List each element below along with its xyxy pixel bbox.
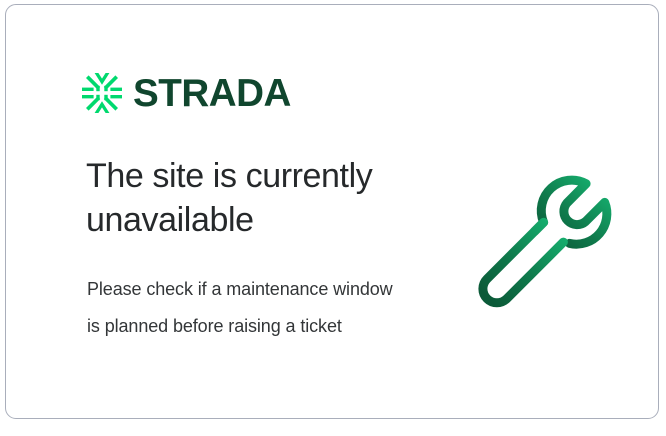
brand-logo: STRADA	[80, 71, 293, 115]
page-description: Please check if a maintenance window is …	[87, 271, 397, 345]
page-title: The site is currently unavailable	[86, 155, 416, 242]
brand-wordmark: STRADA	[133, 74, 291, 113]
wrench-icon	[461, 157, 621, 317]
asterisk-star-logo-icon	[80, 71, 124, 115]
status-card: STRADA The site is currently unavailable…	[5, 4, 659, 419]
error-page: STRADA The site is currently unavailable…	[0, 0, 666, 436]
